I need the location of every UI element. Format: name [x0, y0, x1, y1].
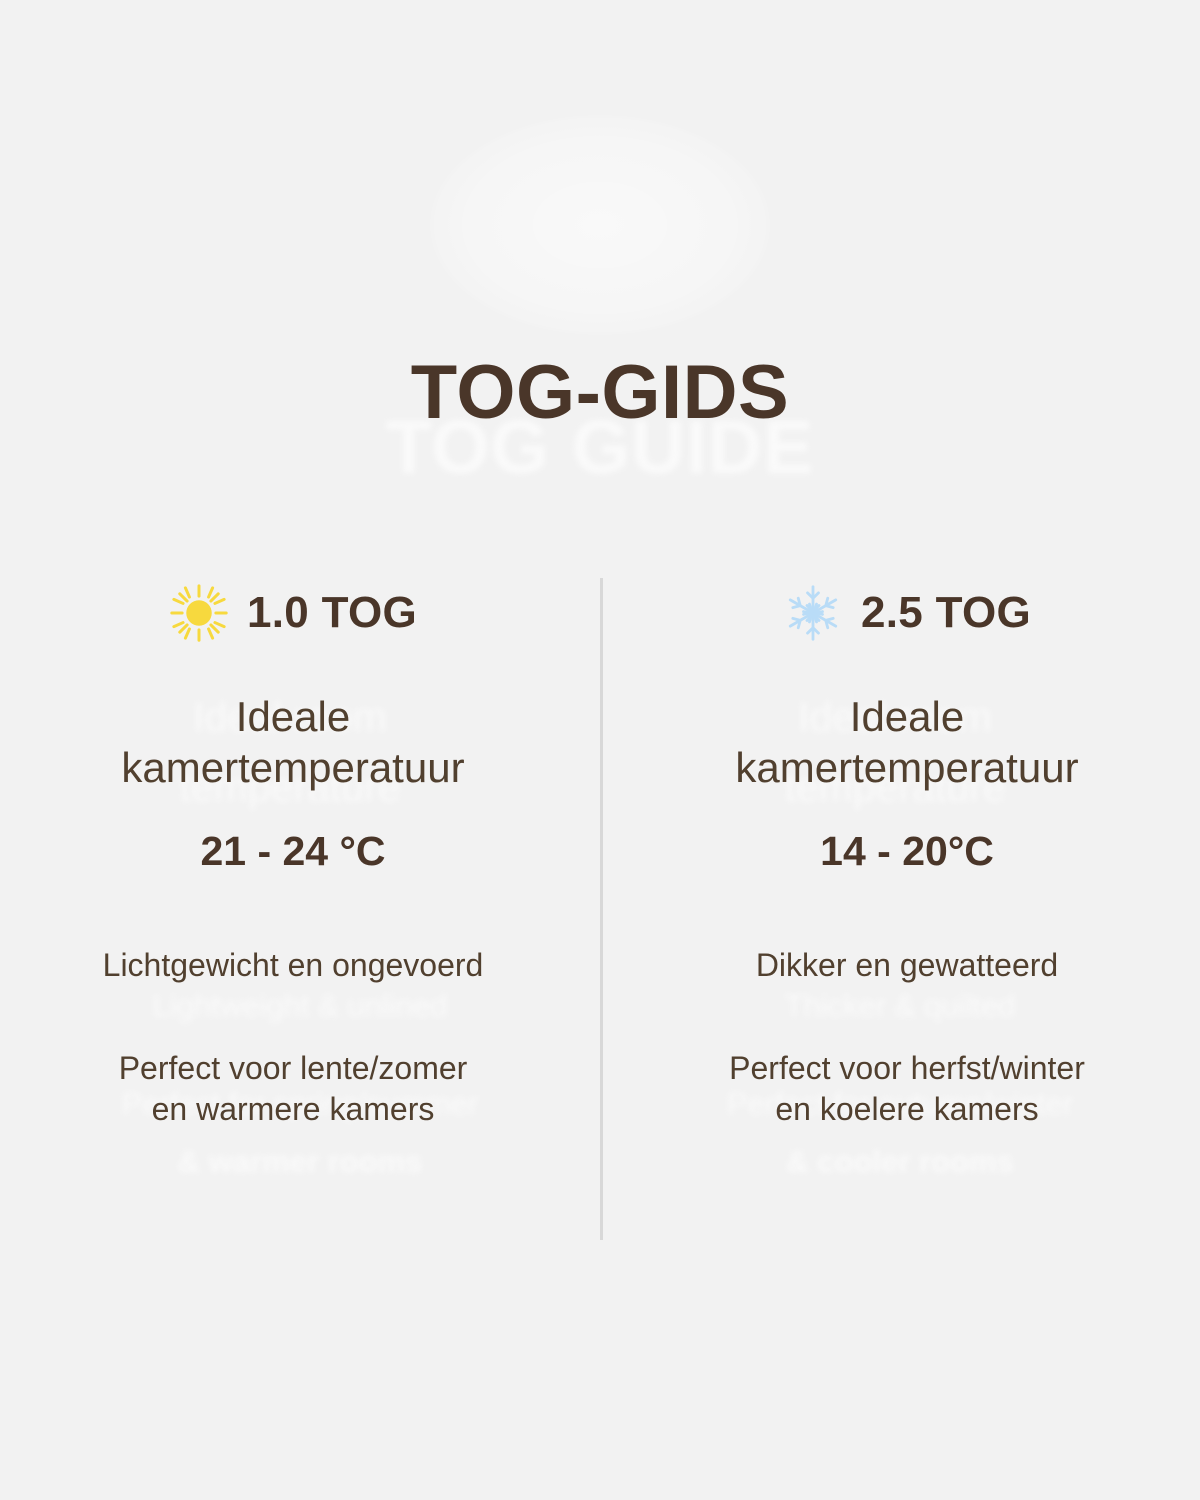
temperature-range: 21 - 24 °C	[8, 831, 578, 872]
snowflake-icon	[783, 583, 843, 643]
page-title: TOG-GIDS	[0, 355, 1200, 431]
note-item: Dikker en gewatteerd	[622, 945, 1192, 986]
note-line: en warmere kamers	[14, 1089, 572, 1130]
note-line: Perfect voor herfst/winter	[628, 1048, 1186, 1089]
note-line: Perfect voor lente/zomer	[14, 1048, 572, 1089]
column-notes: Lichtgewicht en ongevoerd Perfect voor l…	[8, 945, 578, 1130]
tog-value-label: 1.0 TOG	[247, 591, 417, 635]
column-header-1-0: 1.0 TOG	[8, 575, 578, 651]
ideal-temperature-label-line2: kamertemperatuur	[34, 742, 552, 793]
temperature-range: 14 - 20°C	[622, 831, 1192, 872]
ideal-temperature-label: Ideale kamertemperatuur	[8, 691, 578, 793]
note-line: Lichtgewicht en ongevoerd	[14, 945, 572, 986]
note-item: Perfect voor herfst/winter en koelere ka…	[622, 1048, 1192, 1130]
column-notes: Dikker en gewatteerd Perfect voor herfst…	[622, 945, 1192, 1130]
sun-icon	[169, 583, 229, 643]
note-item: Lichtgewicht en ongevoerd	[8, 945, 578, 986]
column-divider	[600, 578, 603, 1240]
ideal-temperature-label: Ideale kamertemperatuur	[622, 691, 1192, 793]
ghost-note3-right: & cooler rooms	[620, 1144, 1180, 1180]
tog-column-1-0: 1.0 TOG Ideale kamertemperatuur 21 - 24 …	[8, 575, 578, 1130]
note-line: Dikker en gewatteerd	[628, 945, 1186, 986]
note-line: en koelere kamers	[628, 1089, 1186, 1130]
ideal-temperature-label-line2: kamertemperatuur	[648, 742, 1166, 793]
tog-column-2-5: 2.5 TOG Ideale kamertemperatuur 14 - 20°…	[622, 575, 1192, 1130]
tog-value-label: 2.5 TOG	[861, 591, 1031, 635]
ideal-temperature-label-line1: Ideale	[648, 691, 1166, 742]
note-item: Perfect voor lente/zomer en warmere kame…	[8, 1048, 578, 1130]
ghost-note3-left: & warmer rooms	[20, 1144, 580, 1180]
ideal-temperature-label-line1: Ideale	[34, 691, 552, 742]
background-blob	[430, 115, 770, 335]
column-header-2-5: 2.5 TOG	[622, 575, 1192, 651]
